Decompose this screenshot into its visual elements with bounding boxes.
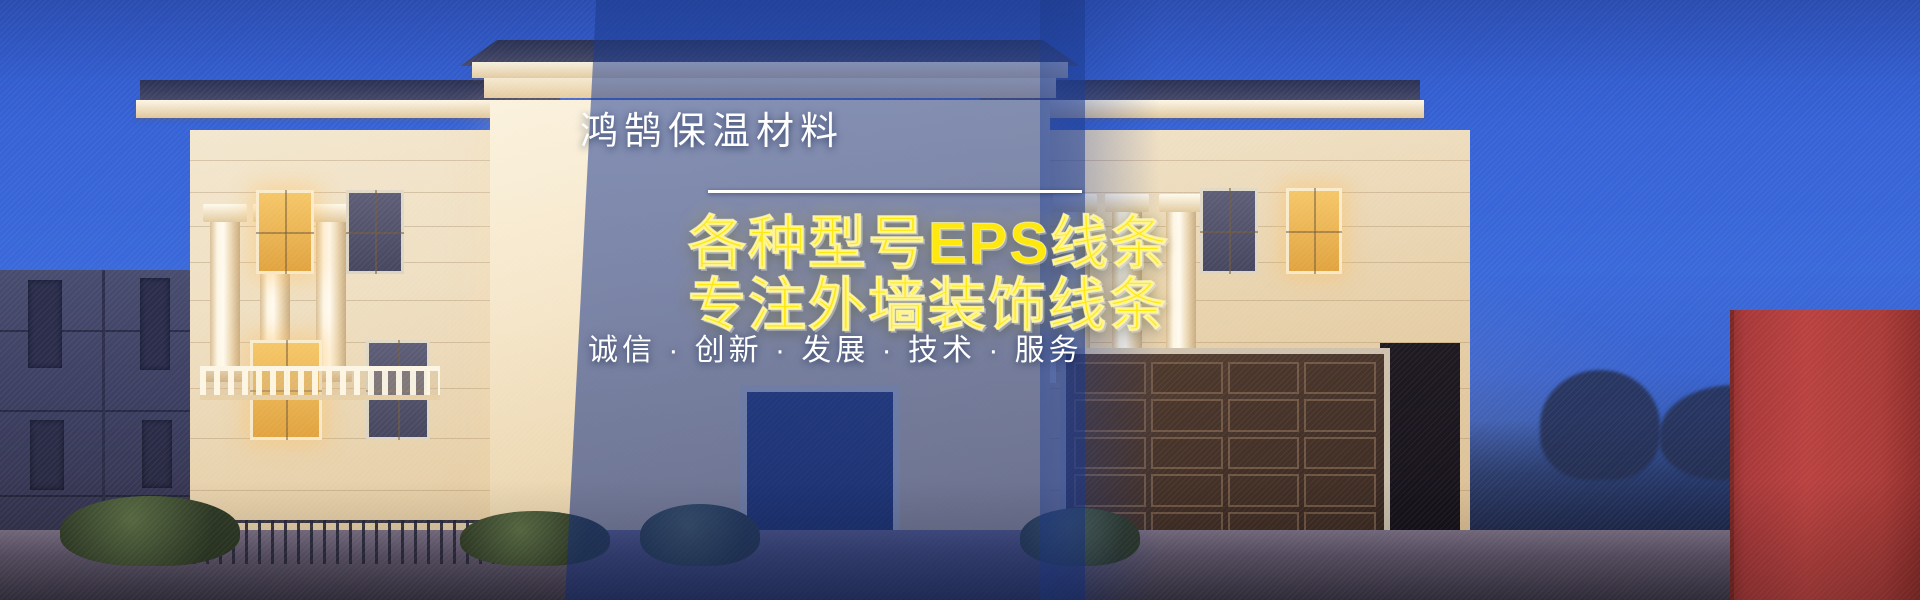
garage-panel: [1304, 437, 1376, 469]
promo-banner: 鸿鹄保温材料 各种型号EPS线条 专注外墙装饰线条 诚信 · 创新 · 发展 ·…: [0, 0, 1920, 600]
building-window: [28, 280, 62, 368]
window-mullion: [346, 190, 404, 274]
villa-window-lit: [256, 190, 314, 274]
garage-panel: [1151, 474, 1223, 506]
window-mullion: [256, 190, 314, 274]
villa-column: [1166, 210, 1196, 360]
garage-panel: [1304, 474, 1376, 506]
tree-silhouette: [1540, 370, 1660, 480]
shrub: [60, 496, 240, 566]
garage-panel: [1304, 362, 1376, 394]
window-mullion: [1200, 188, 1258, 274]
garage-panel: [1304, 399, 1376, 431]
villa-window-dark: [346, 190, 404, 274]
banner-copy: 鸿鹄保温材料 各种型号EPS线条 专注外墙装饰线条 诚信 · 创新 · 发展 ·…: [580, 0, 1140, 600]
window-mullion: [1286, 188, 1342, 274]
tagline: 诚信 · 创新 · 发展 · 技术 · 服务: [588, 325, 1083, 369]
divider-rule: [708, 190, 1082, 193]
garage-panel: [1228, 362, 1300, 394]
garage-panel: [1228, 437, 1300, 469]
garage-panel: [1228, 474, 1300, 506]
red-container: [1730, 310, 1920, 600]
garage-recess: [1380, 343, 1460, 558]
villa-window-lit: [1286, 188, 1342, 274]
villa-column: [210, 220, 240, 370]
villa-balustrade: [200, 366, 440, 400]
building-window: [30, 420, 64, 490]
garage-panel: [1151, 399, 1223, 431]
garage-panel: [1151, 437, 1223, 469]
villa-window-dark: [1200, 188, 1258, 274]
garage-panel: [1228, 399, 1300, 431]
brand-name: 鸿鹄保温材料: [580, 100, 844, 155]
garage-panel: [1151, 362, 1223, 394]
